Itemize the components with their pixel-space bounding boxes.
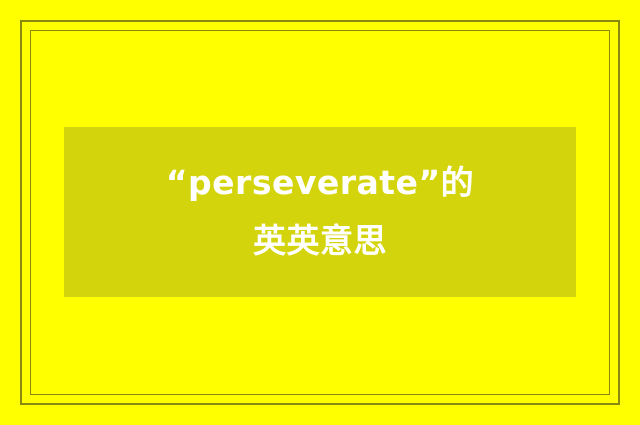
title-card: “perseverate”的英英意思 (64, 127, 576, 297)
poster-canvas: “perseverate”的英英意思 (0, 0, 640, 425)
card-title-text: “perseverate”的英英意思 (150, 154, 490, 270)
